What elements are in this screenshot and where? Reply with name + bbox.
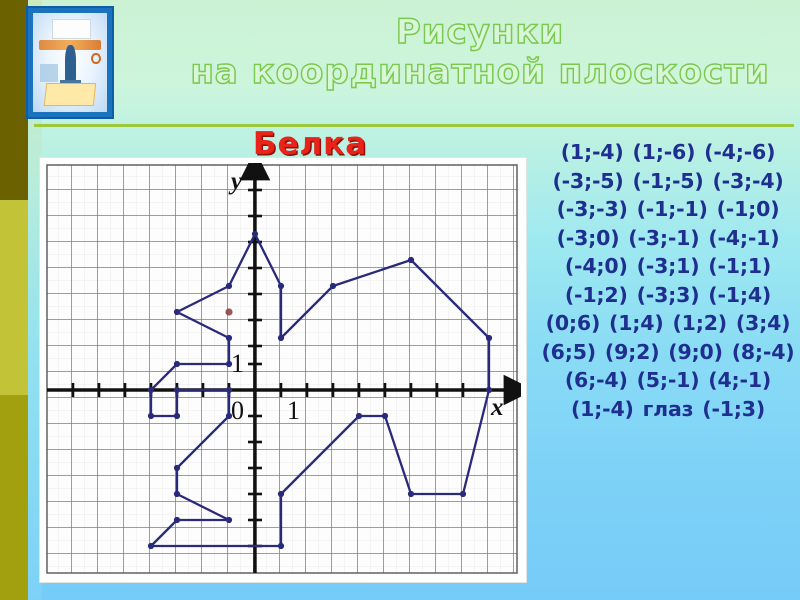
y-unit-label: 1	[231, 349, 244, 378]
coordinate-plane-svg: y x 0 1 1	[45, 163, 521, 577]
textbook-cover-art	[33, 13, 107, 112]
textbook-open-page-shape	[44, 83, 97, 106]
squirrel-eye-point	[225, 308, 232, 315]
textbook-thumbnail	[26, 6, 114, 119]
left-edge-band-top	[0, 0, 28, 200]
x-unit-label: 1	[287, 396, 300, 425]
slide-title-line-2: на координатной плоскости	[170, 52, 790, 92]
figure-caption: Белка	[150, 126, 470, 162]
textbook-seal-icon	[91, 53, 101, 65]
x-axis-label: x	[490, 394, 504, 421]
coordinate-plane-panel: y x 0 1 1	[40, 158, 526, 582]
textbook-shelf-shape	[40, 64, 58, 82]
left-edge-band-middle	[0, 200, 28, 395]
coordinate-plane-canvas: y x 0 1 1	[45, 163, 521, 577]
slide-title-line-1: Рисунки	[170, 12, 790, 52]
y-axis-label: y	[228, 168, 243, 195]
slide-root: Рисунки на координатной плоскости Белка	[0, 0, 800, 600]
textbook-statue-figure	[65, 45, 76, 83]
slide-title: Рисунки на координатной плоскости	[170, 12, 790, 92]
textbook-paper-shape	[52, 19, 90, 39]
coordinates-list: (1;-4) (1;-6) (-4;-6) (-3;-5) (-1;-5) (-…	[540, 138, 796, 423]
left-edge-band-bottom	[0, 395, 28, 600]
origin-label: 0	[231, 396, 244, 425]
